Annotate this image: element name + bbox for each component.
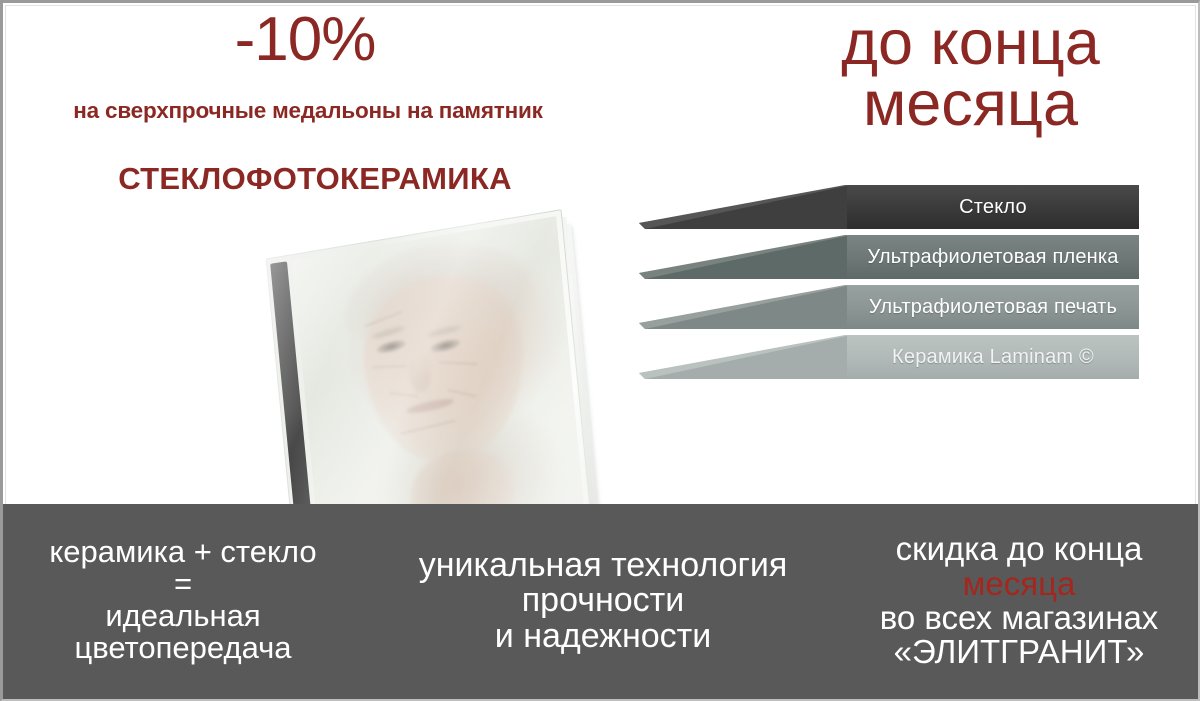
- layer-row: Керамика Laminam ©: [639, 335, 1139, 379]
- medallion-stage: [243, 165, 687, 539]
- feature-bar: керамика + стекло = идеальная цветоперед…: [3, 504, 1198, 700]
- layer-wedge-icon: [639, 185, 851, 229]
- layer-plate: Керамика Laminam ©: [847, 335, 1139, 379]
- layer-row: Ультрафиолетовая печать: [639, 285, 1139, 329]
- feature-line: прочности: [363, 583, 843, 618]
- layer-wedge-icon: [639, 285, 851, 329]
- layer-plate: Ультрафиолетовая печать: [847, 285, 1139, 329]
- deadline-line-2: месяца: [743, 74, 1198, 135]
- layer-diagram: Стекло Ультрафиолетовая пленка Уль: [639, 185, 1139, 385]
- layer-plate: Стекло: [847, 185, 1139, 229]
- feature-line: =: [3, 568, 363, 600]
- discount-subtitle: на сверхпрочные медальоны на памятник: [13, 99, 603, 124]
- layer-label: Ультрафиолетовая пленка: [867, 246, 1118, 269]
- layer-label: Керамика Laminam ©: [892, 346, 1094, 369]
- feature-line: скидка до конца: [843, 532, 1195, 566]
- layer-label: Ультрафиолетовая печать: [869, 296, 1117, 319]
- feature-column-ceramic-glass: керамика + стекло = идеальная цветоперед…: [3, 536, 363, 669]
- layer-label: Стекло: [959, 196, 1027, 219]
- promo-top-section: -10% на сверхпрочные медальоны на памятн…: [3, 3, 1198, 503]
- layer-plate: Ультрафиолетовая пленка: [847, 235, 1139, 279]
- feature-line: уникальная технология: [363, 548, 843, 583]
- feature-column-technology: уникальная технология прочности и надежн…: [363, 548, 843, 656]
- promo-banner: -10% на сверхпрочные медальоны на памятн…: [0, 0, 1200, 701]
- layer-row: Ультрафиолетовая пленка: [639, 235, 1139, 279]
- feature-line: керамика + стекло: [3, 536, 363, 568]
- feature-line-accent: месяца: [843, 567, 1195, 601]
- feature-line: идеальная: [3, 600, 363, 632]
- feature-line: «ЭЛИТГРАНИТ»: [843, 635, 1195, 669]
- feature-line: и надежности: [363, 619, 843, 654]
- feature-column-discount-stores: скидка до конца месяца во всех магазинах…: [843, 532, 1195, 671]
- layer-wedge-icon: [639, 335, 851, 379]
- product-photo-medallion: [255, 199, 675, 504]
- discount-value: -10%: [115, 9, 495, 71]
- deadline-title: до конца месяца: [743, 13, 1198, 135]
- layer-wedge-icon: [639, 235, 851, 279]
- feature-line: цветопередача: [3, 632, 363, 664]
- deadline-line-1: до конца: [743, 13, 1198, 74]
- feature-line: во всех магазинах: [843, 601, 1195, 635]
- layer-row: Стекло: [639, 185, 1139, 229]
